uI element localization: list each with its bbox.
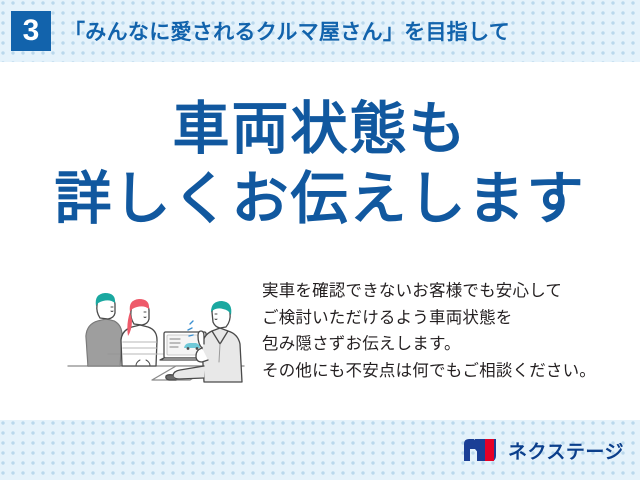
headline-line-1: 車両状態も <box>0 96 640 162</box>
nexstage-logo: ネクステージ <box>463 437 624 464</box>
body-copy-line-3: 包み隠さずお伝えします。 <box>262 331 596 358</box>
headline: 車両状態も 詳しくお伝えします <box>0 96 640 232</box>
body-copy: 実車を確認できないお客様でも安心して ご検討いただけるよう車両状態を 包み隠さず… <box>262 278 596 385</box>
body-copy-line-4: その他にも不安点は何でもご相談ください。 <box>262 358 596 385</box>
promotional-banner: 3 「みんなに愛されるクルマ屋さん」を目指して 車両状態も 詳しくお伝えします <box>0 0 640 480</box>
headline-line-2: 詳しくお伝えします <box>0 166 640 232</box>
nexstage-n-logomark <box>463 437 501 463</box>
illustration-and-copy-row: 実車を確認できないお客様でも安心して ご検討いただけるよう車両状態を 包み隠さず… <box>0 270 640 410</box>
body-copy-line-2: ご検討いただけるよう車両状態を <box>262 305 596 332</box>
banner-header: 3 「みんなに愛されるクルマ屋さん」を目指して <box>0 0 640 62</box>
logo-text: ネクステージ <box>508 437 624 464</box>
customer-consultation-illustration <box>56 270 256 390</box>
banner-footer: ネクステージ <box>0 420 640 480</box>
header-title: 「みんなに愛されるクルマ屋さん」を目指して <box>64 16 510 46</box>
body-copy-line-1: 実車を確認できないお客様でも安心して <box>262 278 596 305</box>
section-number-badge: 3 <box>11 11 51 51</box>
content-panel: 車両状態も 詳しくお伝えします <box>0 62 640 420</box>
